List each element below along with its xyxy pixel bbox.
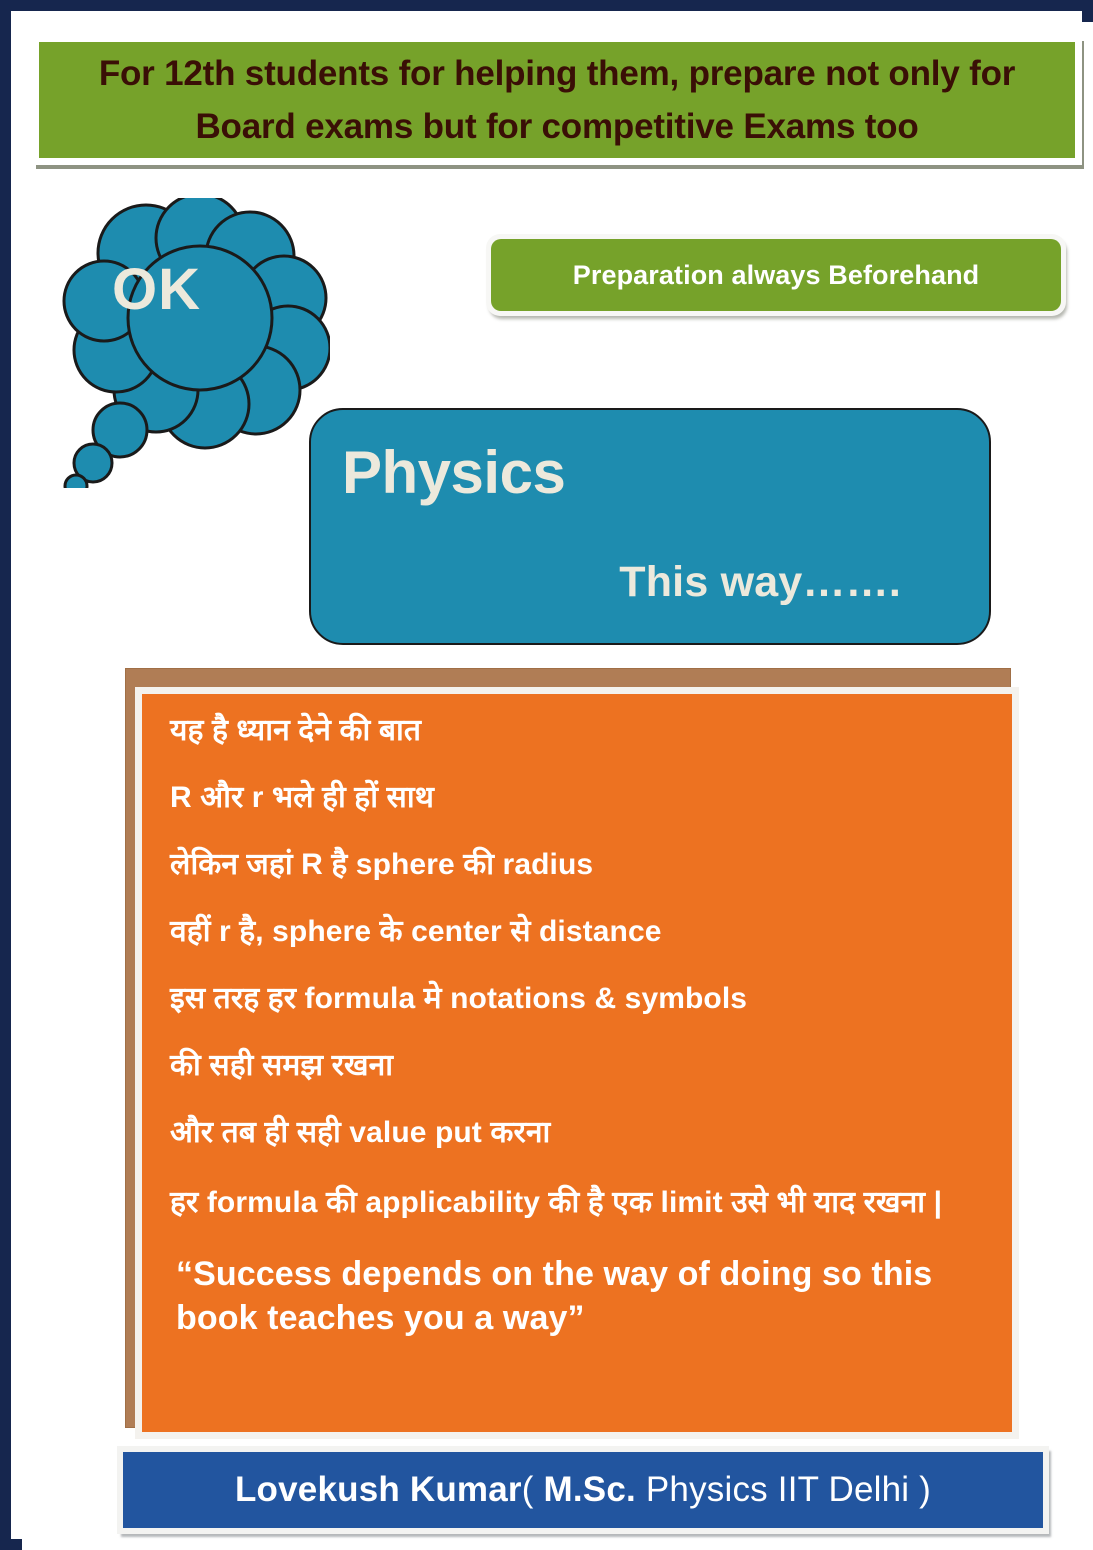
content-panel: यह है ध्यान देने की बात R और r भले ही हो… [135,687,1019,1439]
author-credential-open: ( [522,1470,544,1509]
content-line: वहीं r है, sphere के center से distance [170,917,988,947]
content-line: हर formula की applicability की है एक lim… [170,1185,988,1222]
author-bar: Lovekush Kumar( M.Sc. Physics IIT Delhi … [117,1446,1049,1534]
thought-cloud-icon [60,198,330,488]
thought-bubble: OK [60,198,330,488]
author-bar-fill: Lovekush Kumar( M.Sc. Physics IIT Delhi … [123,1452,1043,1528]
headline-text: For 12th students for helping them, prep… [39,47,1075,153]
content-panel-fill: यह है ध्यान देने की बात R और r भले ही हो… [142,694,1012,1432]
prep-badge: Preparation always Beforehand [486,234,1066,316]
content-line: और तब ही सही value put करना [170,1118,988,1148]
content-line: की सही समझ रखना [170,1051,988,1081]
physics-callout-box: Physics This way……. [309,408,991,645]
prep-badge-fill: Preparation always Beforehand [491,239,1061,311]
content-line: लेकिन जहां R है sphere की radius [170,850,988,880]
author-credential-rest: Physics IIT Delhi ) [636,1470,931,1509]
author-degree: M.Sc. [544,1470,636,1509]
author-name: Lovekush Kumar [235,1470,522,1509]
content-line: यह है ध्यान देने की बात [170,716,988,746]
content-quote: “Success depends on the way of doing so … [170,1252,988,1342]
headline-banner-fill: For 12th students for helping them, prep… [39,42,1075,158]
headline-banner: For 12th students for helping them, prep… [32,35,1082,165]
page-canvas: For 12th students for helping them, prep… [22,22,1093,1550]
physics-subtitle: This way……. [619,558,901,607]
prep-badge-label: Preparation always Beforehand [573,260,980,291]
page-border-frame: For 12th students for helping them, prep… [0,0,1093,1550]
content-line: इस तरह हर formula मे notations & symbols [170,984,988,1014]
content-line: R और r भले ही हों साथ [170,783,988,813]
author-credit: Lovekush Kumar( M.Sc. Physics IIT Delhi … [235,1470,931,1510]
physics-title: Physics [342,438,565,507]
